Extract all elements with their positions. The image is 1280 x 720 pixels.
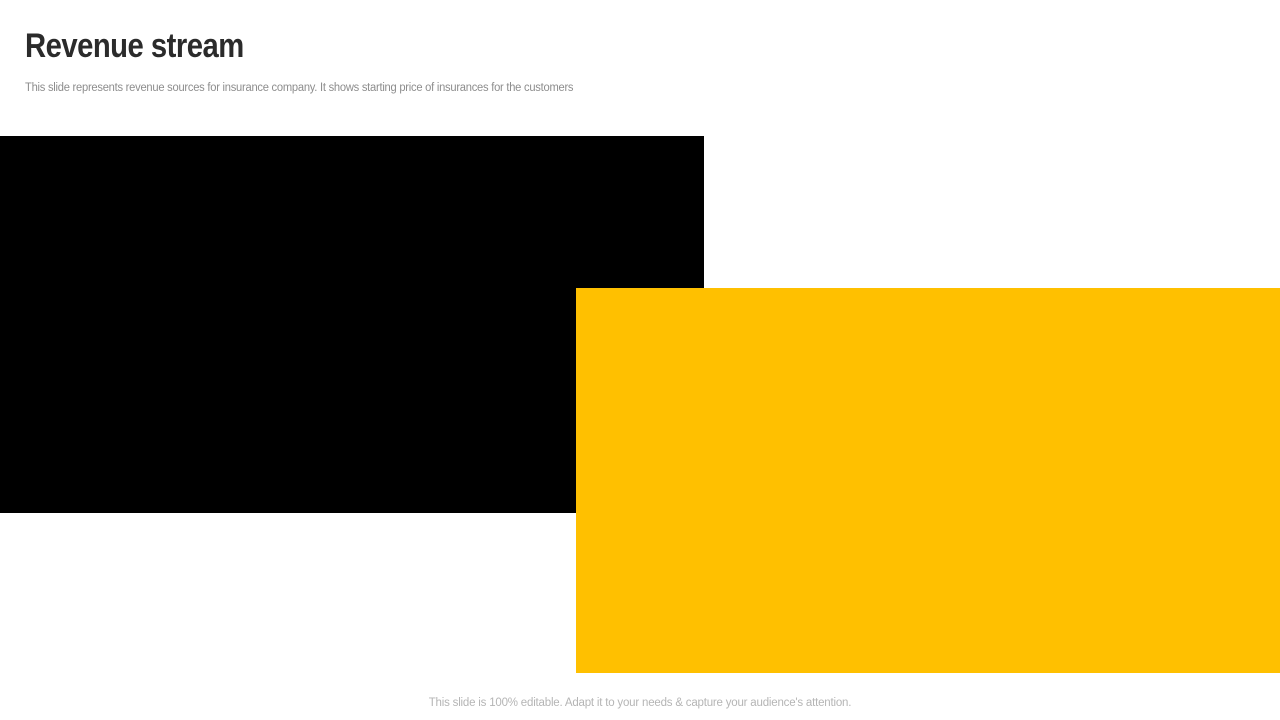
page-title: Revenue stream xyxy=(25,26,244,66)
page-subtitle: This slide represents revenue sources fo… xyxy=(25,82,573,94)
slide-footer-note: This slide is 100% editable. Adapt it to… xyxy=(0,697,1280,709)
card-content-insurance xyxy=(576,288,1280,673)
